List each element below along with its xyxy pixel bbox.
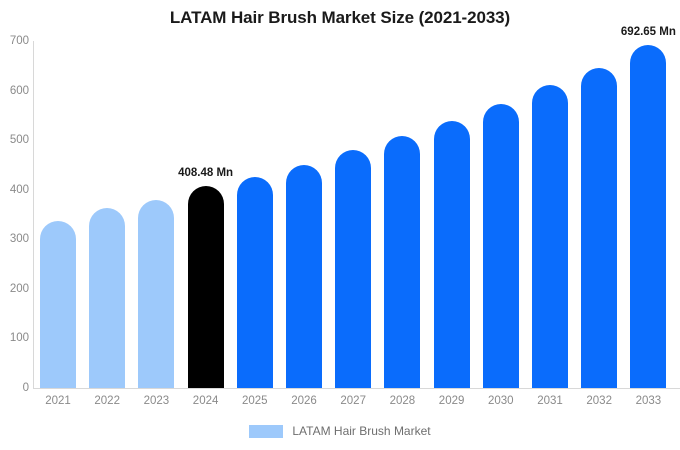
legend-item[interactable]: LATAM Hair Brush Market: [249, 424, 430, 438]
y-axis-tick-label: 100: [1, 332, 29, 344]
bar-2022[interactable]: [89, 208, 125, 388]
bar-2023[interactable]: [138, 200, 174, 388]
x-axis-tick-label-2029: 2029: [430, 394, 474, 408]
bar-2025[interactable]: [237, 177, 273, 388]
y-axis-tick-label: 0: [1, 382, 29, 394]
legend-swatch-icon: [249, 425, 283, 438]
bar-2026[interactable]: [286, 165, 322, 388]
y-axis-tick-label: 700: [1, 35, 29, 47]
y-axis-tick-label: 400: [1, 184, 29, 196]
y-axis-tick-label: 600: [1, 85, 29, 97]
x-axis-tick-labels: 2021202220232024202520262027202820292030…: [33, 394, 680, 412]
x-axis-tick-label-2022: 2022: [85, 394, 129, 408]
bar-2027[interactable]: [335, 150, 371, 388]
chart-title: LATAM Hair Brush Market Size (2021-2033): [0, 8, 680, 28]
chart-legend: LATAM Hair Brush Market: [0, 424, 680, 438]
x-axis-tick-label-2026: 2026: [282, 394, 326, 408]
bar-2028[interactable]: [384, 136, 420, 388]
x-axis-tick-label-2027: 2027: [331, 394, 375, 408]
bar-2032[interactable]: [581, 68, 617, 388]
bar-data-label-2024: 408.48 Mn: [178, 167, 233, 179]
bar-2029[interactable]: [434, 121, 470, 388]
bar-2024[interactable]: [188, 186, 224, 388]
x-axis-tick-label-2032: 2032: [577, 394, 621, 408]
y-axis-tick-label: 500: [1, 134, 29, 146]
bar-data-label-2033: 692.65 Mn: [621, 26, 676, 38]
bar-2021[interactable]: [40, 221, 76, 388]
chart-container: LATAM Hair Brush Market Size (2021-2033)…: [0, 0, 680, 450]
x-axis-tick-label-2030: 2030: [479, 394, 523, 408]
x-axis-tick-label-2023: 2023: [134, 394, 178, 408]
x-axis-line: [33, 388, 680, 389]
x-axis-tick-label-2028: 2028: [380, 394, 424, 408]
x-axis-tick-label-2024: 2024: [184, 394, 228, 408]
x-axis-tick-label-2031: 2031: [528, 394, 572, 408]
bar-2030[interactable]: [483, 104, 519, 388]
bar-2031[interactable]: [532, 85, 568, 388]
y-axis-tick-label: 200: [1, 283, 29, 295]
x-axis-tick-label-2025: 2025: [233, 394, 277, 408]
x-axis-tick-label-2033: 2033: [626, 394, 670, 408]
y-axis-tick-labels: 0100200300400500600700: [0, 0, 29, 450]
y-axis-tick-label: 300: [1, 233, 29, 245]
legend-label: LATAM Hair Brush Market: [292, 424, 430, 438]
x-axis-tick-label-2021: 2021: [36, 394, 80, 408]
bar-2033[interactable]: [630, 45, 666, 388]
bars-layer: 408.48 Mn692.65 Mn: [33, 41, 680, 388]
